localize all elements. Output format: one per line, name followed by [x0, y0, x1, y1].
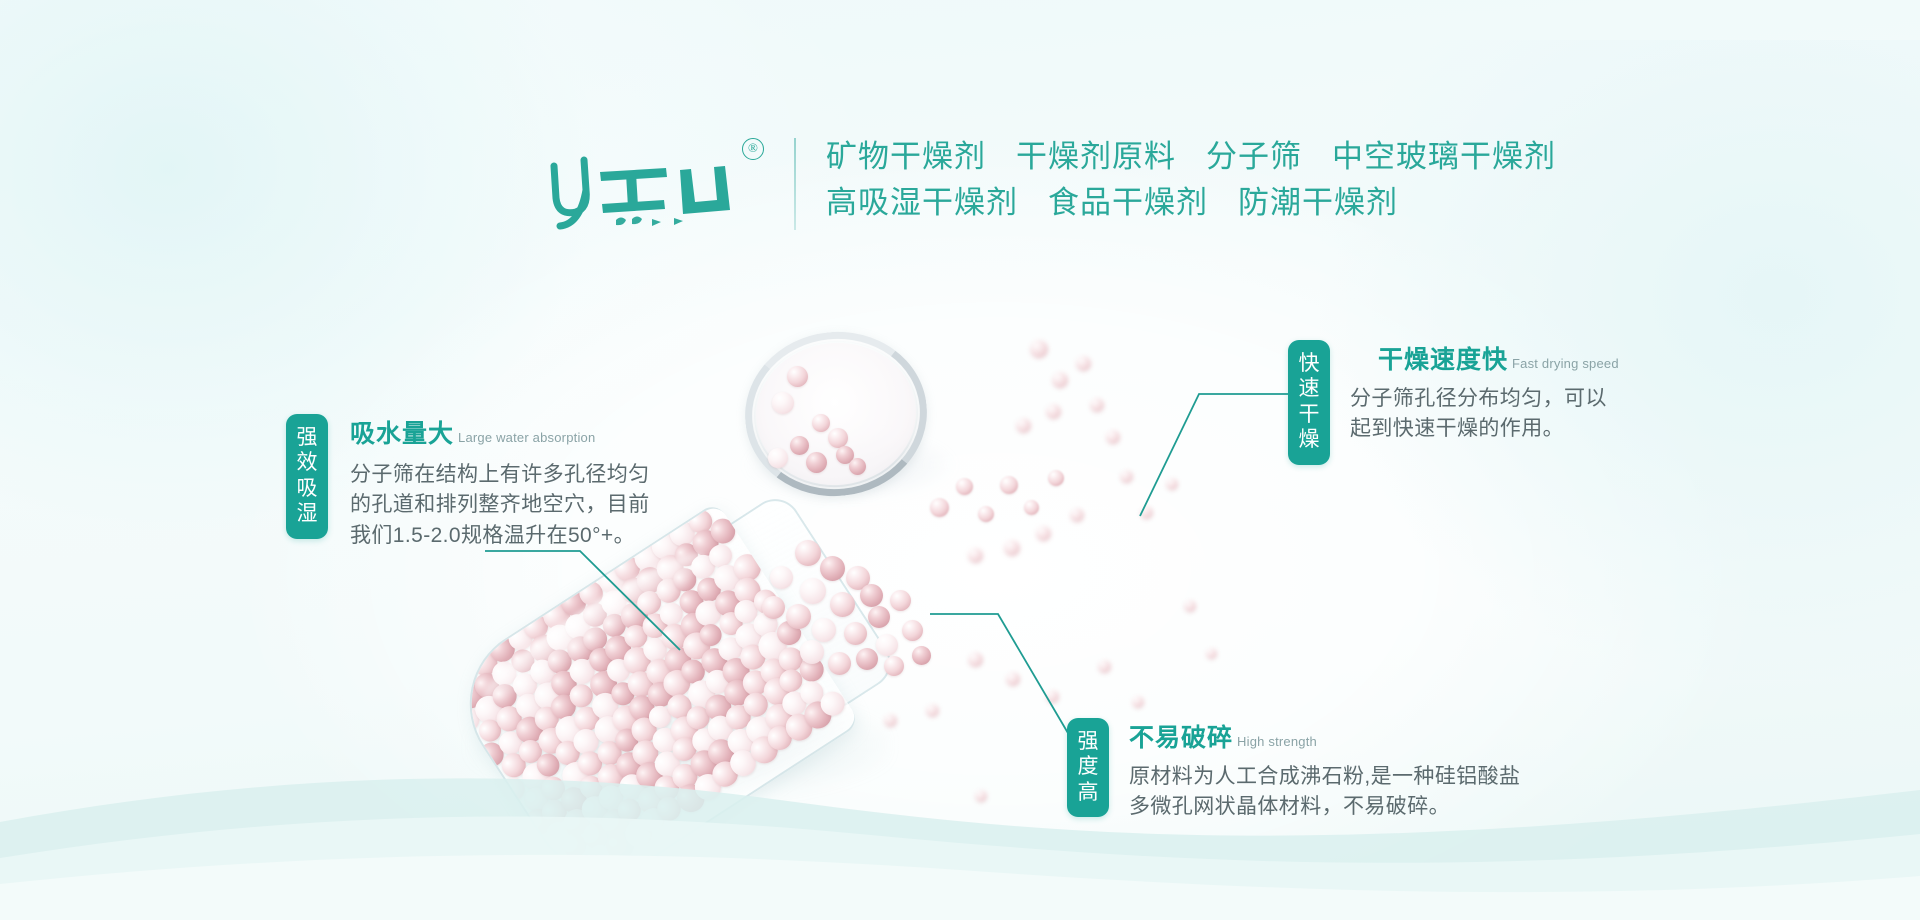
badge-char: 湿 [286, 501, 328, 526]
badge-char: 干 [1288, 402, 1330, 427]
callout-body: 干燥速度快 Fast drying speed 分子筛孔径分布均匀，可以 起到快… [1350, 340, 1619, 445]
nav-item-desiccant-raw-material[interactable]: 干燥剂原料 [1016, 134, 1176, 180]
callout-title-row: 干燥速度快 Fast drying speed [1350, 340, 1619, 376]
badge-char: 快 [1288, 351, 1330, 376]
callout-description: 分子筛孔径分布均匀，可以 起到快速干燥的作用。 [1350, 384, 1619, 445]
callout-title-en: Large water absorption [458, 430, 595, 445]
badge-char: 燥 [1288, 427, 1330, 452]
brand-logo[interactable]: ® [540, 132, 770, 240]
registered-trademark-icon: ® [742, 138, 764, 160]
nav-item-high-moisture-desiccant[interactable]: 高吸湿干燥剂 [826, 180, 1018, 226]
badge-char: 吸 [286, 476, 328, 501]
nav-row-1: 矿物干燥剂 干燥剂原料 分子筛 中空玻璃干燥剂 [826, 134, 1556, 180]
callout-title-en: Fast drying speed [1512, 356, 1619, 371]
header: ® 矿物干燥剂 干燥剂原料 分子筛 中空玻璃干燥剂 高吸湿干燥剂 食品干燥剂 防… [540, 132, 1556, 240]
callout-body: 吸水量大 Large water absorption 分子筛在结构上有许多孔径… [350, 414, 650, 551]
nav-item-mineral-desiccant[interactable]: 矿物干燥剂 [826, 134, 986, 180]
badge-strong-absorption: 强 效 吸 湿 [286, 414, 328, 539]
nav-item-insulating-glass-desiccant[interactable]: 中空玻璃干燥剂 [1332, 134, 1556, 180]
promo-banner: ® 矿物干燥剂 干燥剂原料 分子筛 中空玻璃干燥剂 高吸湿干燥剂 食品干燥剂 防… [0, 0, 1920, 920]
nav-row-2: 高吸湿干燥剂 食品干燥剂 防潮干燥剂 [826, 180, 1556, 226]
wave-decoration [0, 730, 1920, 920]
callout-description: 分子筛在结构上有许多孔径均匀 的孔道和排列整齐地空穴，目前 我们1.5-2.0规… [350, 460, 650, 551]
badge-char: 效 [286, 450, 328, 475]
nav-item-molecular-sieve[interactable]: 分子筛 [1206, 134, 1302, 180]
nav-item-moisture-proof-desiccant[interactable]: 防潮干燥剂 [1238, 180, 1398, 226]
callout-title-row: 吸水量大 Large water absorption [350, 414, 650, 450]
callout-absorption: 强 效 吸 湿 吸水量大 Large water absorption 分子筛在… [286, 414, 650, 551]
callout-drying-speed: 快 速 干 燥 干燥速度快 Fast drying speed 分子筛孔径分布均… [1288, 340, 1619, 465]
header-divider [794, 138, 796, 230]
nav-item-food-desiccant[interactable]: 食品干燥剂 [1048, 180, 1208, 226]
nav-menu: 矿物干燥剂 干燥剂原料 分子筛 中空玻璃干燥剂 高吸湿干燥剂 食品干燥剂 防潮干… [826, 132, 1556, 226]
badge-char: 强 [286, 425, 328, 450]
badge-fast-drying: 快 速 干 燥 [1288, 340, 1330, 465]
callout-title-cn: 吸水量大 [350, 414, 454, 450]
callout-title-cn: 干燥速度快 [1378, 340, 1508, 376]
badge-char: 速 [1288, 376, 1330, 401]
logo-glyph-icon [540, 146, 750, 232]
